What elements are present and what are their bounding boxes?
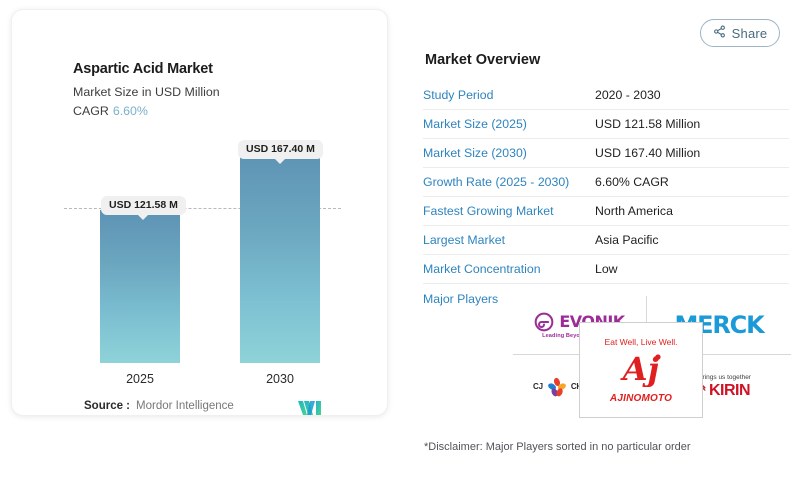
- mordor-intelligence-logo-icon: [298, 398, 322, 423]
- row-value: North America: [595, 204, 673, 218]
- ajinomoto-tagline: Eat Well, Live Well.: [605, 337, 678, 347]
- table-row: Market Size (2030) USD 167.40 Million: [423, 139, 789, 168]
- row-value: Asia Pacific: [595, 233, 659, 247]
- cj-blossom-icon: [546, 376, 568, 398]
- row-key: Market Size (2025): [423, 117, 595, 131]
- chart-card: Aspartic Acid Market Market Size in USD …: [11, 9, 388, 416]
- table-row: Market Size (2025) USD 121.58 Million: [423, 110, 789, 139]
- x-axis-tick-2030: 2030: [240, 372, 320, 386]
- table-row: Growth Rate (2025 - 2030) 6.60% CAGR: [423, 168, 789, 197]
- table-row: Study Period 2020 - 2030: [423, 81, 789, 110]
- source-label: Source :: [84, 400, 130, 412]
- row-value: 2020 - 2030: [595, 88, 661, 102]
- row-key: Largest Market: [423, 233, 595, 247]
- share-icon: [713, 25, 726, 41]
- bar-2030[interactable]: [240, 151, 320, 363]
- market-overview-title: Market Overview: [425, 52, 540, 68]
- table-row: Largest Market Asia Pacific: [423, 226, 789, 255]
- source-row: Source : Mordor Intelligence: [84, 400, 234, 412]
- row-key: Growth Rate (2025 - 2030): [423, 175, 595, 189]
- bar-value-label-2030: USD 167.40 M: [238, 140, 323, 159]
- row-value: USD 121.58 Million: [595, 117, 700, 131]
- row-value: USD 167.40 Million: [595, 146, 700, 160]
- share-button[interactable]: Share: [700, 19, 780, 47]
- row-value: Low: [595, 262, 618, 276]
- logo-ajinomoto: Eat Well, Live Well. Aj AJINOMOTO: [579, 322, 703, 418]
- row-key: Market Size (2030): [423, 146, 595, 160]
- disclaimer-text: *Disclaimer: Major Players sorted in no …: [424, 441, 691, 453]
- share-label: Share: [732, 26, 768, 41]
- row-value: 6.60% CAGR: [595, 175, 669, 189]
- ajinomoto-mark-icon: Aj: [608, 349, 674, 392]
- major-players-logos: EVONIK Leading Beyond Chemistry MERCK CJ: [513, 296, 791, 418]
- row-key: Study Period: [423, 88, 595, 102]
- row-key: Fastest Growing Market: [423, 204, 595, 218]
- cj-prefix: CJ: [533, 382, 543, 391]
- svg-text:Aj: Aj: [620, 350, 660, 387]
- table-row: Market Concentration Low: [423, 255, 789, 284]
- x-axis-tick-2025: 2025: [100, 372, 180, 386]
- kirin-name: KIRIN: [709, 382, 750, 400]
- bar-chart-plot: USD 121.58 M USD 167.40 M 2025 2030: [12, 10, 389, 417]
- ajinomoto-name: AJINOMOTO: [610, 393, 672, 404]
- table-row: Fastest Growing Market North America: [423, 197, 789, 226]
- evonik-mark-icon: [534, 312, 554, 332]
- bar-value-label-2025: USD 121.58 M: [101, 196, 186, 215]
- market-overview-infographic: Share Aspartic Acid Market Market Size i…: [0, 0, 800, 482]
- source-value: Mordor Intelligence: [136, 400, 234, 412]
- market-overview-table: Study Period 2020 - 2030 Market Size (20…: [423, 81, 789, 314]
- row-key: Market Concentration: [423, 262, 595, 276]
- bar-2025[interactable]: [100, 210, 180, 363]
